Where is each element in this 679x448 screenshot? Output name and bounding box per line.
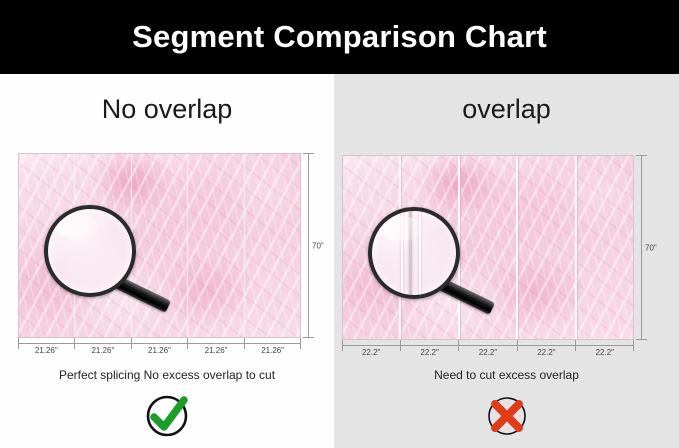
mural-strip — [18, 153, 75, 338]
ruler-cap-top — [303, 153, 314, 154]
mural-image-overlap — [342, 155, 634, 340]
width-label: 22.2" — [576, 348, 634, 357]
page-title: Segment Comparison Chart — [132, 19, 547, 55]
width-label: 21.26" — [75, 346, 132, 355]
mural-strip — [401, 155, 460, 340]
mural-strip — [75, 153, 132, 338]
height-label: 70" — [645, 243, 657, 252]
panel-seams-overlap — [342, 155, 634, 340]
mural-border — [342, 155, 634, 340]
comparison-panels: No overlap — [0, 74, 679, 448]
mural-strip — [518, 155, 577, 340]
ruler-line — [641, 155, 642, 340]
mural-strip — [342, 155, 401, 340]
panel-heading-no-overlap: No overlap — [0, 94, 334, 125]
ruler-cap-bottom — [636, 339, 647, 340]
height-ruler-no-overlap: 70" — [301, 153, 327, 338]
width-label: 22.2" — [342, 348, 400, 357]
panel-seams-no-overlap — [18, 153, 301, 338]
magnifier-handle — [437, 278, 495, 315]
width-label: 21.26" — [131, 346, 188, 355]
width-label: 22.2" — [517, 348, 575, 357]
magnifier-with-seam-icon — [368, 207, 472, 311]
ruler-labels: 21.26" 21.26" 21.26" 21.26" 21.26" — [18, 346, 301, 355]
magnified-overlap-seams — [372, 211, 456, 295]
caption-overlap: Need to cut excess overlap — [334, 368, 679, 382]
mural-strip — [188, 153, 245, 338]
mural-strip — [132, 153, 189, 338]
magnifier-handle — [113, 276, 171, 313]
ruler-line — [308, 153, 309, 338]
ruler-labels: 22.2" 22.2" 22.2" 22.2" 22.2" — [342, 348, 634, 357]
width-ruler-overlap: 22.2" 22.2" 22.2" 22.2" 22.2" — [342, 340, 634, 362]
width-label: 21.26" — [18, 346, 75, 355]
width-label: 22.2" — [400, 348, 458, 357]
magnified-seam-line — [401, 211, 403, 295]
caption-no-overlap: Perfect splicing No excess overlap to cu… — [0, 368, 334, 382]
width-label: 21.26" — [244, 346, 301, 355]
height-ruler-overlap: 70" — [634, 155, 660, 340]
magnifier-lens — [368, 207, 460, 299]
mural-image-no-overlap — [18, 153, 301, 338]
panel-no-overlap: No overlap — [0, 74, 334, 448]
mural-strip — [460, 155, 519, 340]
mural-strip — [577, 155, 634, 340]
verdict-no-overlap — [0, 394, 334, 438]
width-ruler-no-overlap: 21.26" 21.26" 21.26" 21.26" 21.26" — [18, 338, 301, 360]
ruler-cap-bottom — [303, 337, 314, 338]
magnifier-neck — [106, 273, 124, 288]
magnifier-neck — [430, 275, 448, 290]
cross-mark-icon — [485, 394, 529, 438]
verdict-overlap — [334, 394, 679, 438]
mural-figure-overlap: 22.2" 22.2" 22.2" 22.2" 22.2" 70" — [342, 155, 634, 340]
mural-figure-no-overlap: 21.26" 21.26" 21.26" 21.26" 21.26" 70" — [18, 153, 301, 338]
mural-border — [18, 153, 301, 338]
magnified-seam-line — [419, 211, 421, 295]
title-bar: Segment Comparison Chart — [0, 0, 679, 74]
panel-heading-overlap: overlap — [334, 94, 679, 125]
check-mark-icon — [145, 394, 189, 438]
magnifier-lens — [44, 205, 136, 297]
height-label: 70" — [312, 241, 324, 250]
magnified-seam-line — [409, 211, 412, 295]
width-label: 21.26" — [188, 346, 245, 355]
panel-overlap: overlap — [334, 74, 679, 448]
magnifier-no-seam-icon — [44, 205, 148, 309]
ruler-cap-top — [636, 155, 647, 156]
width-label: 22.2" — [459, 348, 517, 357]
mural-strip — [245, 153, 301, 338]
